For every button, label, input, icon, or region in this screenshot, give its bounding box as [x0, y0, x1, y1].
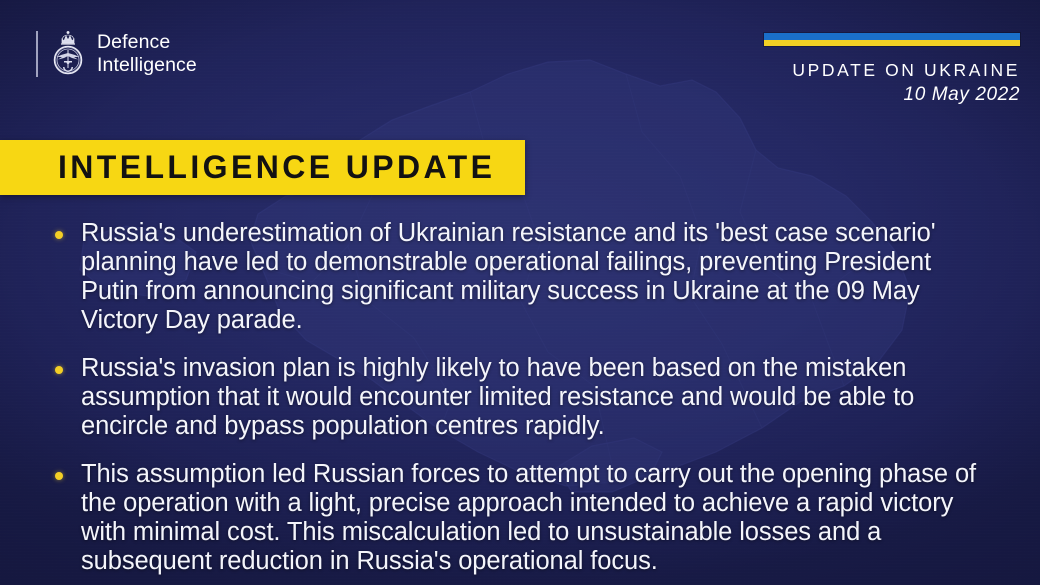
bullet-dot-icon [55, 472, 63, 480]
defence-intelligence-crest-icon [49, 28, 87, 80]
brand-divider [36, 31, 38, 77]
brand-name-line-1: Defence [97, 31, 197, 54]
flag-stripe-yellow [764, 40, 1020, 47]
banner-title: INTELLIGENCE UPDATE [58, 149, 495, 186]
bullet-text: Russia's invasion plan is highly likely … [81, 354, 990, 441]
bullet-text: Russia's underestimation of Ukrainian re… [81, 219, 990, 335]
bullet-list: Russia's underestimation of Ukrainian re… [55, 219, 990, 576]
bullet-item: This assumption led Russian forces to at… [55, 460, 990, 576]
bullet-dot-icon [55, 366, 63, 374]
brand-name-line-2: Intelligence [97, 54, 197, 77]
brand-lockup: Defence Intelligence [36, 28, 197, 80]
update-title: UPDATE ON UKRAINE [764, 59, 1020, 81]
slide-header: Defence Intelligence UPDATE ON UKRAINE 1… [0, 0, 1040, 130]
brand-name: Defence Intelligence [97, 31, 197, 77]
update-date: 10 May 2022 [764, 82, 1020, 107]
bullet-item: Russia's underestimation of Ukrainian re… [55, 219, 990, 335]
ukraine-flag-bar-icon [764, 33, 1020, 46]
intelligence-update-banner: INTELLIGENCE UPDATE [0, 140, 525, 195]
intelligence-update-slide: Defence Intelligence UPDATE ON UKRAINE 1… [0, 0, 1040, 585]
bullet-dot-icon [55, 231, 63, 239]
update-header-block: UPDATE ON UKRAINE 10 May 2022 [764, 33, 1020, 107]
bullet-item: Russia's invasion plan is highly likely … [55, 354, 990, 441]
bullet-text: This assumption led Russian forces to at… [81, 460, 990, 576]
